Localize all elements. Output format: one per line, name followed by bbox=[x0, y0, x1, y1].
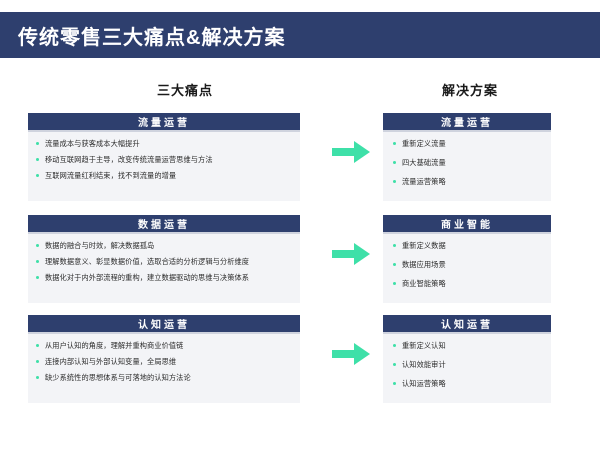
list-item-label: 从用户认知的角度，理解并重构商业价值链 bbox=[45, 340, 183, 351]
list-item: 商业智能策略 bbox=[393, 278, 551, 291]
list-item-label: 移动互联网趋于主导，改变传统流量运营思维与方法 bbox=[45, 154, 213, 165]
bullet-dot-icon bbox=[393, 344, 396, 347]
list-item-label: 认知效能审计 bbox=[402, 359, 446, 370]
list-item: 理解数据意义、彰显数据价值，选取合适的分析逻辑与分析维度 bbox=[36, 256, 300, 269]
list-item-label: 数据的融合与时效，解决数据孤岛 bbox=[45, 240, 154, 251]
bullet-dot-icon bbox=[36, 360, 39, 363]
list-item: 互联网流量红利结束，找不到流量的增量 bbox=[36, 170, 300, 183]
card-title: 商业智能 bbox=[383, 215, 551, 234]
list-item-label: 重新定义数据 bbox=[402, 240, 446, 251]
list-item: 四大基础流量 bbox=[393, 157, 551, 170]
comparison-row: 数据运营 数据的融合与时效，解决数据孤岛 理解数据意义、彰显数据价值，选取合适的… bbox=[0, 215, 600, 311]
bullet-dot-icon bbox=[36, 376, 39, 379]
solution-card: 商业智能 重新定义数据 数据应用场景 商业智能策略 bbox=[383, 215, 551, 303]
list-item-label: 缺少系统性的思想体系与可落地的认知方法论 bbox=[45, 372, 191, 383]
comparison-row: 认知运营 从用户认知的角度，理解并重构商业价值链 连接内部认知与外部认知变量，全… bbox=[0, 315, 600, 411]
pain-point-card: 数据运营 数据的融合与时效，解决数据孤岛 理解数据意义、彰显数据价值，选取合适的… bbox=[28, 215, 300, 303]
arrow-right-icon bbox=[330, 241, 372, 267]
list-item: 数据化对于内外部流程的重构，建立数据驱动的思维与决策体系 bbox=[36, 272, 300, 285]
list-item: 连接内部认知与外部认知变量，全局思维 bbox=[36, 356, 300, 369]
list-item-label: 重新定义流量 bbox=[402, 138, 446, 149]
bullet-dot-icon bbox=[393, 161, 396, 164]
list-item-label: 流量运营策略 bbox=[402, 176, 446, 187]
column-heading-solutions: 解决方案 bbox=[390, 80, 550, 99]
card-title: 认知运营 bbox=[383, 315, 551, 334]
list-item-label: 流量成本与获客成本大幅提升 bbox=[45, 138, 140, 149]
bullet-dot-icon bbox=[36, 276, 39, 279]
list-item-label: 互联网流量红利结束，找不到流量的增量 bbox=[45, 170, 176, 181]
list-item: 重新定义流量 bbox=[393, 138, 551, 151]
card-title: 数据运营 bbox=[28, 215, 300, 234]
arrow-right-icon bbox=[330, 139, 372, 165]
solution-card: 流量运营 重新定义流量 四大基础流量 流量运营策略 bbox=[383, 113, 551, 201]
list-item-label: 四大基础流量 bbox=[402, 157, 446, 168]
list-item: 移动互联网趋于主导，改变传统流量运营思维与方法 bbox=[36, 154, 300, 167]
card-title: 流量运营 bbox=[28, 113, 300, 132]
list-item-label: 数据化对于内外部流程的重构，建立数据驱动的思维与决策体系 bbox=[45, 272, 249, 283]
list-item: 认知运营策略 bbox=[393, 378, 551, 391]
pain-point-card: 认知运营 从用户认知的角度，理解并重构商业价值链 连接内部认知与外部认知变量，全… bbox=[28, 315, 300, 403]
bullet-dot-icon bbox=[393, 363, 396, 366]
bullet-dot-icon bbox=[36, 174, 39, 177]
pain-point-card: 流量运营 流量成本与获客成本大幅提升 移动互联网趋于主导，改变传统流量运营思维与… bbox=[28, 113, 300, 201]
bullet-dot-icon bbox=[36, 244, 39, 247]
list-item: 认知效能审计 bbox=[393, 359, 551, 372]
list-item-label: 理解数据意义、彰显数据价值，选取合适的分析逻辑与分析维度 bbox=[45, 256, 249, 267]
list-item: 数据的融合与时效，解决数据孤岛 bbox=[36, 240, 300, 253]
bullet-dot-icon bbox=[393, 382, 396, 385]
list-item: 从用户认知的角度，理解并重构商业价值链 bbox=[36, 340, 300, 353]
list-item-label: 商业智能策略 bbox=[402, 278, 446, 289]
list-item: 数据应用场景 bbox=[393, 259, 551, 272]
bullet-dot-icon bbox=[36, 260, 39, 263]
card-title: 认知运营 bbox=[28, 315, 300, 334]
list-item: 流量运营策略 bbox=[393, 176, 551, 189]
card-body: 重新定义流量 四大基础流量 流量运营策略 bbox=[383, 132, 551, 189]
bullet-dot-icon bbox=[36, 344, 39, 347]
card-body: 数据的融合与时效，解决数据孤岛 理解数据意义、彰显数据价值，选取合适的分析逻辑与… bbox=[28, 234, 300, 285]
list-item: 重新定义数据 bbox=[393, 240, 551, 253]
list-item-label: 认知运营策略 bbox=[402, 378, 446, 389]
bullet-dot-icon bbox=[393, 282, 396, 285]
bullet-dot-icon bbox=[36, 158, 39, 161]
bullet-dot-icon bbox=[393, 180, 396, 183]
solution-card: 认知运营 重新定义认知 认知效能审计 认知运营策略 bbox=[383, 315, 551, 403]
list-item: 重新定义认知 bbox=[393, 340, 551, 353]
list-item-label: 连接内部认知与外部认知变量，全局思维 bbox=[45, 356, 176, 367]
column-heading-pain-points: 三大痛点 bbox=[105, 80, 265, 99]
card-body: 重新定义数据 数据应用场景 商业智能策略 bbox=[383, 234, 551, 291]
page-title: 传统零售三大痛点&解决方案 bbox=[18, 21, 285, 50]
list-item: 缺少系统性的思想体系与可落地的认知方法论 bbox=[36, 372, 300, 385]
arrow-right-icon bbox=[330, 341, 372, 367]
card-body: 流量成本与获客成本大幅提升 移动互联网趋于主导，改变传统流量运营思维与方法 互联… bbox=[28, 132, 300, 183]
comparison-row: 流量运营 流量成本与获客成本大幅提升 移动互联网趋于主导，改变传统流量运营思维与… bbox=[0, 113, 600, 209]
card-body: 从用户认知的角度，理解并重构商业价值链 连接内部认知与外部认知变量，全局思维 缺… bbox=[28, 334, 300, 385]
bullet-dot-icon bbox=[393, 244, 396, 247]
bullet-dot-icon bbox=[393, 263, 396, 266]
list-item-label: 数据应用场景 bbox=[402, 259, 446, 270]
footer-divider bbox=[0, 444, 600, 450]
bullet-dot-icon bbox=[36, 142, 39, 145]
card-title: 流量运营 bbox=[383, 113, 551, 132]
bullet-dot-icon bbox=[393, 142, 396, 145]
list-item: 流量成本与获客成本大幅提升 bbox=[36, 138, 300, 151]
card-body: 重新定义认知 认知效能审计 认知运营策略 bbox=[383, 334, 551, 391]
slide-title-bar: 传统零售三大痛点&解决方案 bbox=[0, 12, 600, 58]
list-item-label: 重新定义认知 bbox=[402, 340, 446, 351]
